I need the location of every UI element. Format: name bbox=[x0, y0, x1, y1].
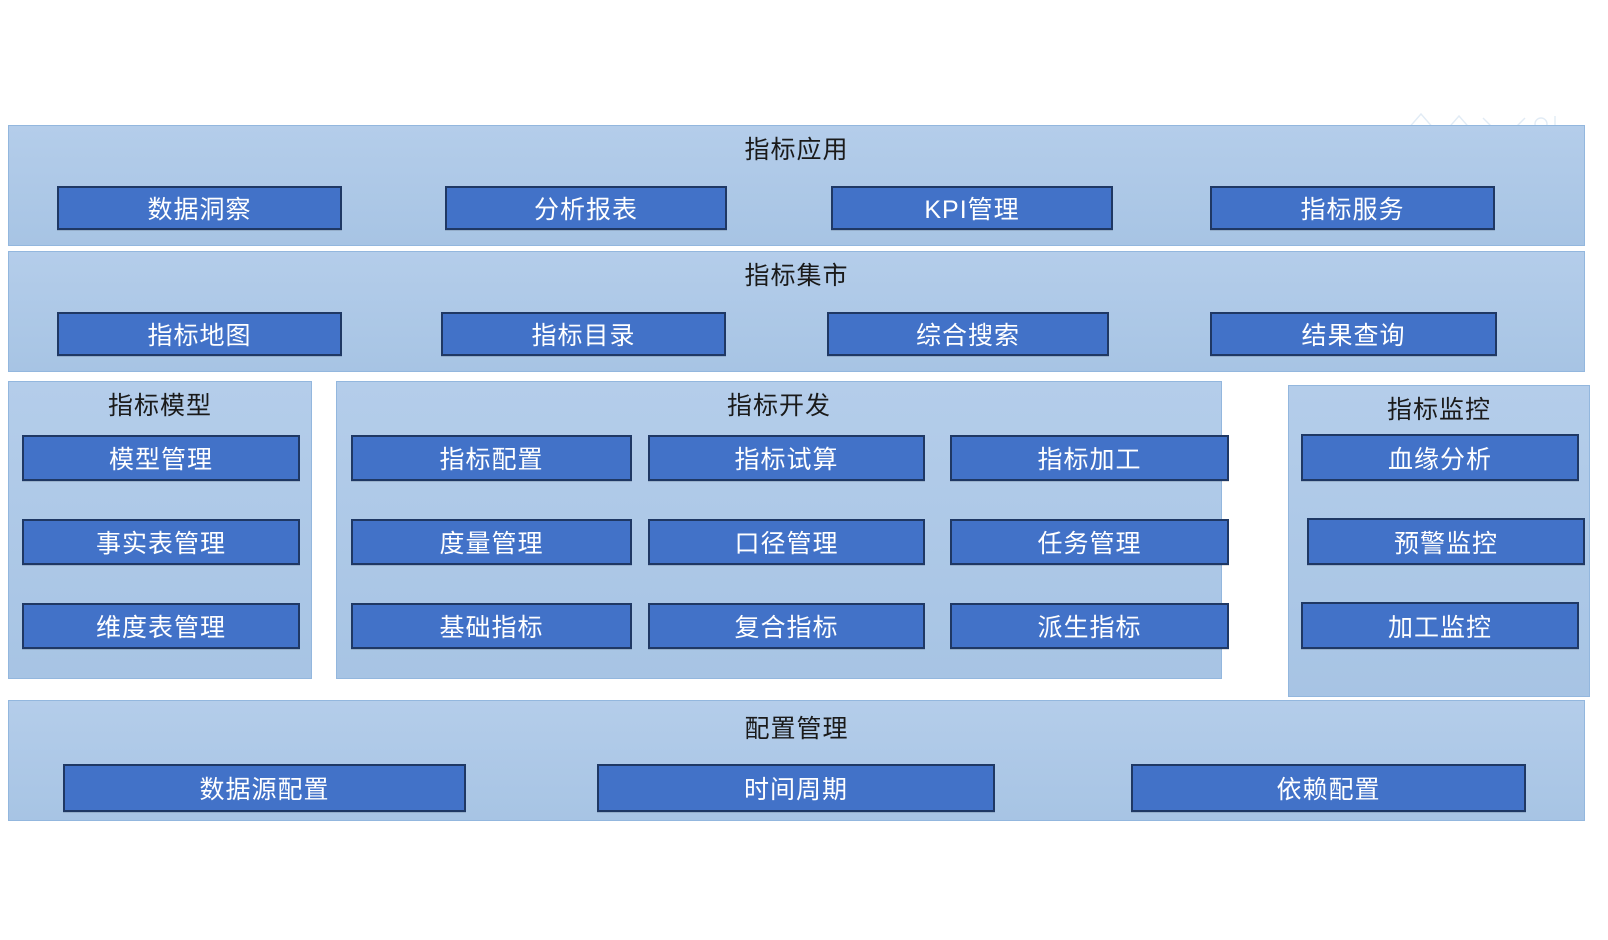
module-button-basic-indicator[interactable]: 基础指标 bbox=[351, 603, 632, 649]
module-button-task-management[interactable]: 任务管理 bbox=[950, 519, 1229, 565]
module-button-indicator-configuration[interactable]: 指标配置 bbox=[351, 435, 632, 481]
module-button-alert-monitoring[interactable]: 预警监控 bbox=[1307, 518, 1585, 565]
module-button-comprehensive-search[interactable]: 综合搜索 bbox=[827, 312, 1109, 356]
layer-panel-indicator-monitoring: 指标监控 血缘分析 预警监控 加工监控 bbox=[1288, 385, 1590, 697]
module-button-indicator-service[interactable]: 指标服务 bbox=[1210, 186, 1495, 230]
module-button-indicator-map[interactable]: 指标地图 bbox=[57, 312, 342, 356]
module-button-indicator-trial-calculation[interactable]: 指标试算 bbox=[648, 435, 925, 481]
layer-panel-indicator-mart: 指标集市 指标地图 指标目录 综合搜索 结果查询 bbox=[8, 251, 1585, 372]
module-button-caliber-management[interactable]: 口径管理 bbox=[648, 519, 925, 565]
module-button-data-insight[interactable]: 数据洞察 bbox=[57, 186, 342, 230]
module-button-result-query[interactable]: 结果查询 bbox=[1210, 312, 1497, 356]
module-button-measure-management[interactable]: 度量管理 bbox=[351, 519, 632, 565]
layer-title-indicator-development: 指标开发 bbox=[337, 391, 1221, 421]
layer-panel-indicator-model: 指标模型 模型管理 事实表管理 维度表管理 bbox=[8, 381, 312, 679]
module-button-derived-indicator[interactable]: 派生指标 bbox=[950, 603, 1229, 649]
module-button-dimension-table-management[interactable]: 维度表管理 bbox=[22, 603, 300, 649]
layer-panel-configuration-management: 配置管理 数据源配置 时间周期 依赖配置 bbox=[8, 700, 1585, 821]
layer-title-configuration-management: 配置管理 bbox=[9, 714, 1584, 744]
module-button-indicator-catalog[interactable]: 指标目录 bbox=[441, 312, 726, 356]
layer-panel-indicator-application: 指标应用 数据洞察 分析报表 KPI管理 指标服务 bbox=[8, 125, 1585, 246]
module-button-time-period[interactable]: 时间周期 bbox=[597, 764, 995, 812]
module-button-indicator-processing[interactable]: 指标加工 bbox=[950, 435, 1229, 481]
module-button-fact-table-management[interactable]: 事实表管理 bbox=[22, 519, 300, 565]
module-button-kpi-management[interactable]: KPI管理 bbox=[831, 186, 1113, 230]
module-button-composite-indicator[interactable]: 复合指标 bbox=[648, 603, 925, 649]
layer-title-indicator-monitoring: 指标监控 bbox=[1289, 395, 1589, 425]
layer-panel-indicator-development: 指标开发 指标配置 指标试算 指标加工 度量管理 口径管理 任务管理 基础指标 … bbox=[336, 381, 1222, 679]
module-button-model-management[interactable]: 模型管理 bbox=[22, 435, 300, 481]
module-button-processing-monitoring[interactable]: 加工监控 bbox=[1301, 602, 1579, 649]
module-button-analysis-report[interactable]: 分析报表 bbox=[445, 186, 727, 230]
module-button-dependency-configuration[interactable]: 依赖配置 bbox=[1131, 764, 1526, 812]
layer-title-indicator-application: 指标应用 bbox=[9, 135, 1584, 165]
layer-title-indicator-mart: 指标集市 bbox=[9, 261, 1584, 291]
architecture-diagram-canvas: 指标应用 数据洞察 分析报表 KPI管理 指标服务 指标集市 指标地图 指标目录… bbox=[0, 0, 1608, 940]
module-button-datasource-configuration[interactable]: 数据源配置 bbox=[63, 764, 466, 812]
layer-title-indicator-model: 指标模型 bbox=[9, 391, 311, 421]
module-button-lineage-analysis[interactable]: 血缘分析 bbox=[1301, 434, 1579, 481]
